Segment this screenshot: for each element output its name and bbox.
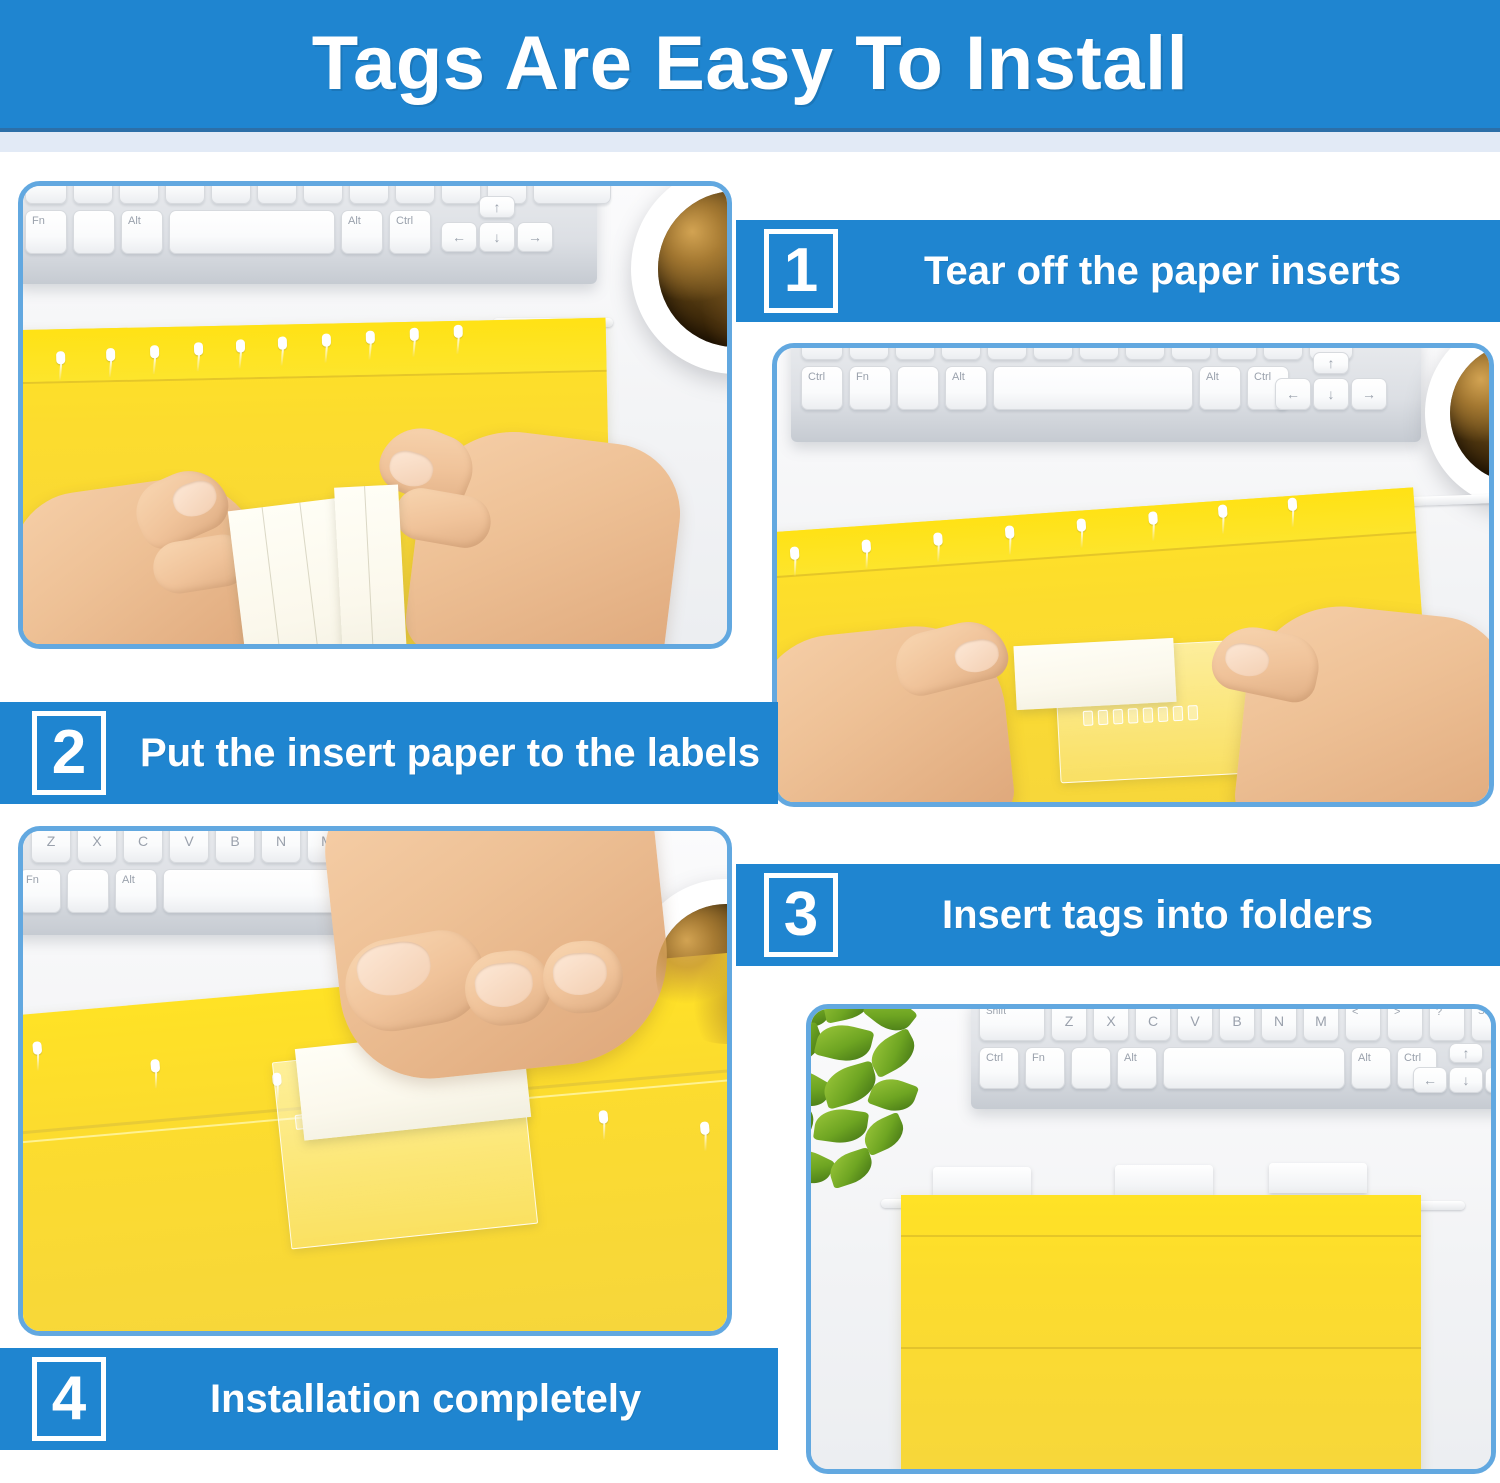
key-comma: < [1345,1009,1381,1041]
folder-pin [933,532,943,546]
key [211,186,251,204]
key-c: C [1135,1009,1171,1041]
key-b: B [215,831,255,863]
key-z: Z [31,831,71,863]
key-z: Z [1051,1009,1087,1041]
key-n: N [261,831,301,863]
key-arrow-up: ↑ [1449,1043,1483,1063]
keyboard: Z X C V B N M Fn Alt [23,831,363,935]
key-c: C [123,831,163,863]
folder-pin [194,342,203,355]
header-soft-band [0,132,1500,152]
key [1171,348,1211,360]
step-number-2: 2 [52,722,86,784]
step-number-box-4: 4 [32,1357,106,1441]
installed-file-tab [1115,1165,1213,1195]
keyboard: Ctrl Fn Alt Alt Ctrl ↑ ← ↓ → [791,348,1421,442]
key [25,186,67,204]
key-ctrl-left: Ctrl [801,366,843,410]
key-x: X [77,831,117,863]
key [257,186,297,204]
scene-tear-off-paper: Fn Alt Alt Ctrl ↑ ← ↓ → [23,186,727,644]
key-arrow-right: → [517,222,553,252]
key [1217,348,1257,360]
step-number-4: 4 [52,1368,86,1430]
photo-panel-1: Fn Alt Alt Ctrl ↑ ← ↓ → [18,181,732,649]
keyboard-row-top [801,348,1353,360]
step-number-box-1: 1 [764,229,838,313]
step-banner-4: 4 Installation completely [0,1348,778,1450]
tag-tooth [1173,706,1184,722]
key-arrow-up: ↑ [479,196,515,218]
key-space [1163,1047,1345,1089]
key-arrow-down: ↓ [1313,378,1349,410]
plant-leaf [825,1147,876,1189]
folder-pin [278,336,287,349]
folder-pin [1005,525,1015,539]
key-alt-left: Alt [121,210,163,254]
installed-file-tab [933,1167,1031,1197]
key-alt-right: Alt [341,210,383,254]
key [441,186,481,204]
folder-pin [106,348,115,361]
photo-panel-3: Z X C V B N M Fn Alt [18,826,732,1336]
folder-pin [32,1041,42,1055]
step-banner-2: 2 Put the insert paper to the labels [0,702,778,804]
folder-pin [861,539,871,553]
key-arrow-right: → [1485,1067,1491,1093]
yellow-folder [901,1195,1421,1469]
folder-crease [901,1235,1421,1237]
keyboard-mod-row: Fn Alt [23,869,363,913]
folder-pin [56,351,65,364]
key-alt-right: Alt [1351,1047,1391,1089]
key [73,186,113,204]
folder-pin [1218,504,1228,518]
key-arrow-left: ← [1275,378,1311,410]
tag-tooth [1128,708,1139,724]
step-banner-3: 3 Insert tags into folders [736,864,1500,966]
folder-pin [1287,498,1297,512]
key-fn: Fn [25,210,67,254]
tag-tooth [1098,710,1109,726]
folder-pin [322,334,331,347]
key-v: V [1177,1009,1213,1041]
key [1125,348,1165,360]
folder-pin [790,546,800,560]
keyboard: Shift Z X C V B N M < > ? Shift Ctrl Fn [971,1009,1491,1109]
folder-pin [454,325,463,338]
key [119,186,159,204]
coffee-foam [658,191,727,346]
plant-leaf [813,1106,869,1147]
paper-perforation-line [364,486,375,644]
key-n: N [1261,1009,1297,1041]
keyboard-row-bottom: Fn Alt Alt Ctrl [25,210,431,254]
step-number-box-2: 2 [32,711,106,795]
key [1033,348,1073,360]
plant-leaf [813,1019,874,1067]
header-banner: Tags Are Easy To Install [0,0,1500,128]
paper-insert-strip [1013,638,1176,710]
folder-pin [366,331,375,344]
key [895,348,935,360]
tag-tooth [1113,709,1124,725]
key [941,348,981,360]
tag-tooth [1083,710,1094,726]
key-alt-left: Alt [945,366,987,410]
key-arrow-down: ↓ [1449,1067,1483,1093]
key-shift-left: Shift [979,1009,1045,1041]
infographic-page: Tags Are Easy To Install [0,0,1500,1483]
step-label-2: Put the insert paper to the labels [140,731,760,776]
installed-file-tab [1269,1163,1367,1193]
key [349,186,389,204]
folder-pin [700,1121,710,1135]
key-fn: Fn [1025,1047,1065,1089]
folder-pin [150,345,159,358]
folder-pin [1076,518,1086,532]
keyboard-row-top [25,186,611,204]
coffee-foam [1450,348,1489,483]
step-number-box-3: 3 [764,873,838,957]
tag-tooth [1143,707,1154,723]
folder-pin [598,1110,608,1124]
step-label-1: Tear off the paper inserts [924,249,1401,294]
key-arrow-right: → [1351,378,1387,410]
key [1079,348,1119,360]
key-ctrl-right: Ctrl [389,210,431,254]
key-alt-right: Alt [1199,366,1241,410]
key-arrow-up: ↑ [1313,352,1349,374]
key-ctrl-left: Ctrl [979,1047,1019,1089]
key [395,186,435,204]
keyboard-row-bottom: Ctrl Fn Alt Alt Ctrl [801,366,1289,410]
key [849,348,889,360]
key-alt-left: Alt [1117,1047,1157,1089]
folder-crease [901,1347,1421,1349]
scene-insert-tag-into-folder: Z X C V B N M Fn Alt [23,831,727,1331]
key-x: X [1093,1009,1129,1041]
step-number-1: 1 [784,240,818,302]
folder-pin [1148,511,1158,525]
key-fn: Fn [23,869,61,913]
scene-installation-complete: Shift Z X C V B N M < > ? Shift Ctrl Fn [811,1009,1491,1469]
key [165,186,205,204]
key-arrow-down: ↓ [479,222,515,252]
step-banner-1: 1 Tear off the paper inserts [736,220,1500,322]
key-shift-right: Shift [1471,1009,1491,1041]
key-m: M [1303,1009,1339,1041]
folder-pin [236,339,245,352]
key-period: > [1387,1009,1423,1041]
key-arrow-left: ← [441,222,477,252]
key-alt: Alt [115,869,157,913]
paper-insert-strip-torn [334,484,408,644]
key [1263,348,1303,360]
key [801,348,843,360]
keyboard-mod-row: Ctrl Fn Alt Alt Ctrl [979,1047,1437,1089]
key-blank [1071,1047,1111,1089]
key-v: V [169,831,209,863]
key-slash: ? [1429,1009,1465,1041]
key-space [993,366,1193,410]
folder-pin [150,1059,160,1073]
keyboard-letter-row: Z X C V B N M [31,831,347,863]
step-label-4: Installation completely [210,1377,641,1422]
keyboard-letter-row: Shift Z X C V B N M < > ? Shift [979,1009,1491,1041]
key-blank [897,366,939,410]
scene-insert-paper-to-label: Ctrl Fn Alt Alt Ctrl ↑ ← ↓ → [777,348,1489,802]
key-arrow-left: ← [1413,1067,1447,1093]
folder-pin [410,328,419,341]
paper-perforation-line [299,503,323,644]
photo-panel-2: Ctrl Fn Alt Alt Ctrl ↑ ← ↓ → [772,343,1494,807]
key [987,348,1027,360]
key-space [169,210,335,254]
tag-tooth [1188,705,1199,721]
key-blank [73,210,115,254]
step-number-3: 3 [784,884,818,946]
key-fn: Fn [849,366,891,410]
key [303,186,343,204]
step-label-3: Insert tags into folders [942,893,1373,938]
photo-panel-4: Shift Z X C V B N M < > ? Shift Ctrl Fn [806,1004,1496,1474]
key-blank [67,869,109,913]
key [533,186,611,204]
page-title: Tags Are Easy To Install [312,26,1188,102]
keyboard: Fn Alt Alt Ctrl ↑ ← ↓ → [23,186,597,284]
key-b: B [1219,1009,1255,1041]
paper-perforation-line [262,507,286,644]
tag-tooth [1158,707,1169,723]
